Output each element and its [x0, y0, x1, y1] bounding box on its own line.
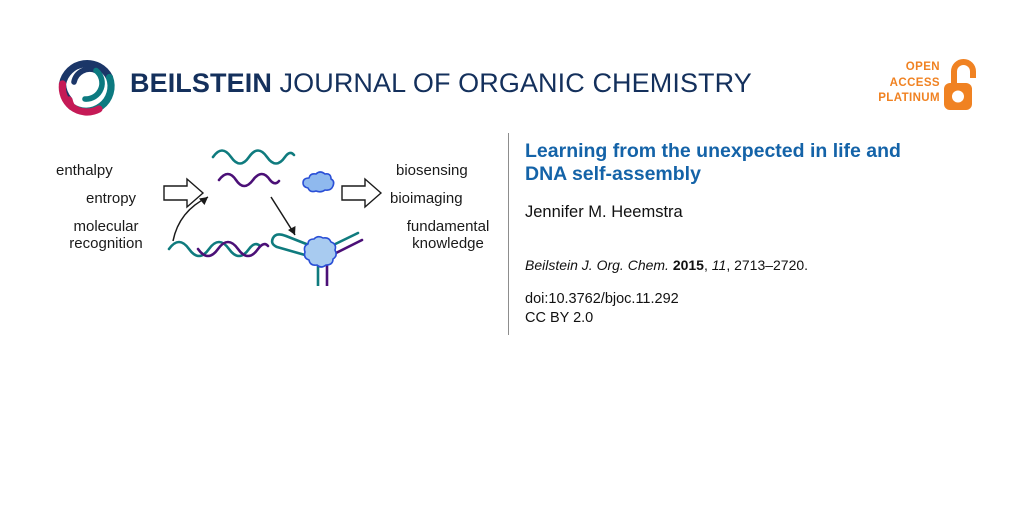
open-access-line-access: ACCESS [878, 76, 940, 92]
open-access-badge: OPEN ACCESS PLATINUM [880, 58, 980, 114]
journal-masthead: BEILSTEIN JOURNAL OF ORGANIC CHEMISTRY O… [0, 0, 1024, 130]
open-access-line-open: OPEN [878, 60, 940, 76]
article-info: Learning from the unexpected in life and… [525, 140, 975, 328]
article-title[interactable]: Learning from the unexpected in life and… [525, 140, 943, 186]
single-strand-purple-icon [219, 174, 279, 186]
article-doi[interactable]: doi:10.3762/bjoc.11.292 [525, 290, 975, 309]
wordmark-subtitle: JOURNAL OF ORGANIC CHEMISTRY [272, 68, 752, 98]
citation-volume: 11 [712, 257, 727, 273]
beilstein-spiral-logo-icon [52, 52, 118, 118]
article-license[interactable]: CC BY 2.0 [525, 309, 975, 328]
citation-year: 2015 [673, 257, 704, 273]
three-way-junction-icon [272, 233, 362, 286]
abstract-artwork [36, 136, 502, 286]
citation-sep-3: , [726, 257, 734, 273]
column-divider [508, 133, 509, 335]
article-author: Jennifer M. Heemstra [525, 202, 975, 222]
blue-blob-ligand-icon [303, 172, 334, 192]
article-citation: Beilstein J. Org. Chem. 2015, 11, 2713–2… [525, 256, 975, 274]
open-lock-icon [942, 58, 980, 112]
citation-journal: Beilstein J. Org. Chem. [525, 257, 669, 273]
block-arrow-right-icon [342, 179, 381, 207]
open-access-line-platinum: PLATINUM [878, 91, 940, 107]
wordmark-beilstein: BEILSTEIN [130, 68, 272, 98]
open-access-label: OPEN ACCESS PLATINUM [878, 60, 940, 107]
graphical-abstract: enthalpy entropy molecular recognition b… [36, 136, 502, 286]
single-strand-teal-icon [213, 151, 294, 164]
duplex-teal-purple-icon [169, 242, 268, 256]
journal-wordmark: BEILSTEIN JOURNAL OF ORGANIC CHEMISTRY [130, 68, 752, 99]
citation-pages: 2713–2720. [734, 257, 808, 273]
curved-arrow-right-icon [271, 197, 296, 235]
citation-sep-2: , [704, 257, 712, 273]
